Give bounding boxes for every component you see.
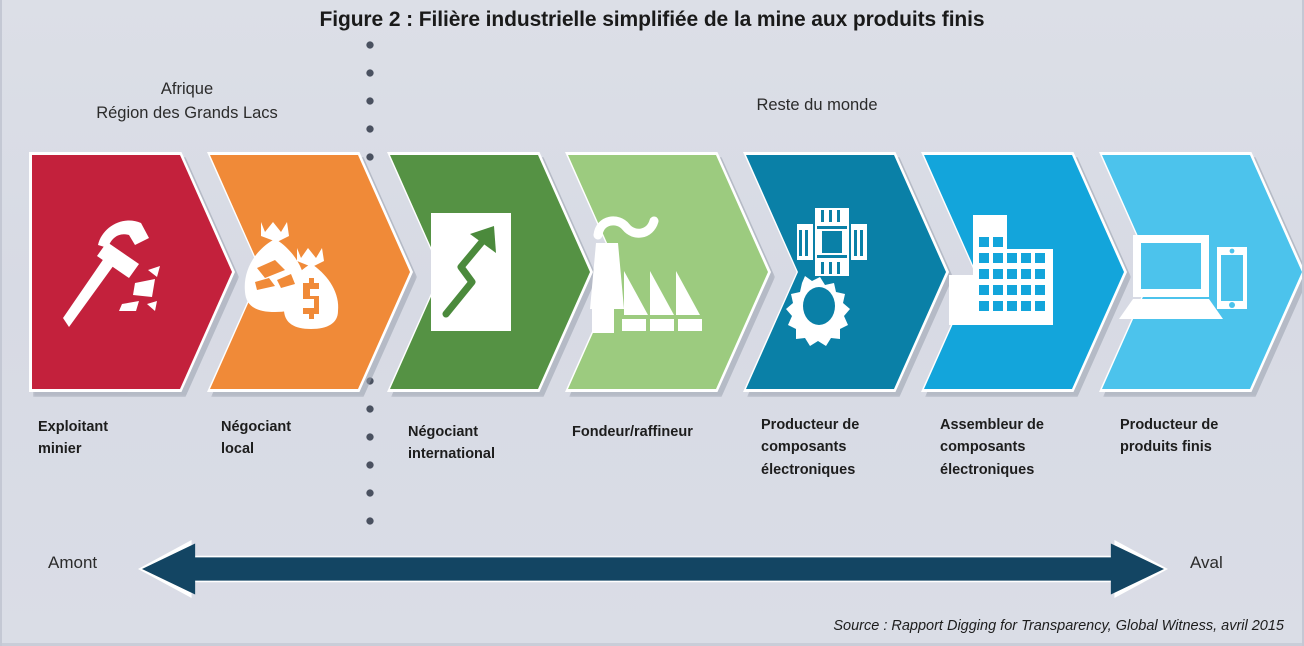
stage-label-line: électroniques (761, 459, 921, 481)
region-label-africa-line1: Afrique (62, 78, 312, 102)
stage-chevron-producteur-composants[interactable] (743, 152, 949, 392)
region-label-africa-line2: Région des Grands Lacs (62, 102, 312, 126)
stage-label-line: Assembleur de (940, 414, 1100, 436)
stage-chevron-fondeur-raffineur[interactable] (565, 152, 771, 392)
money-bags-icon (225, 182, 357, 362)
stage-label-line: international (408, 443, 568, 465)
stage-chevron-assembleur-composants[interactable] (921, 152, 1127, 392)
microchip-gear-icon (761, 182, 893, 362)
stage-label-row: Exploitant minier Négociant local Négoci… (2, 406, 1304, 516)
stage-label-line: Négociant (408, 421, 568, 443)
stage-label-line: local (221, 438, 381, 460)
source-caption: Source : Rapport Digging for Transparenc… (833, 618, 1284, 634)
stage-label-negociant-local: Négociant local (221, 416, 381, 461)
stage-label-fondeur-raffineur: Fondeur/raffineur (572, 421, 747, 443)
stage-chevron-negociant-local[interactable] (207, 152, 413, 392)
trend-arrow-icon (405, 182, 537, 362)
process-chevron-row (2, 152, 1304, 392)
stage-label-assembleur-composants: Assembleur de composants électroniques (940, 414, 1100, 481)
stage-label-line: produits finis (1120, 436, 1280, 458)
stage-label-line: Fondeur/raffineur (572, 421, 747, 443)
stage-label-line: composants (761, 436, 921, 458)
arrow-fill (142, 540, 1164, 598)
stage-label-line: Producteur de (1120, 414, 1280, 436)
stage-label-line: composants (940, 436, 1100, 458)
figure-canvas: Figure 2 : Filière industrielle simplifi… (0, 0, 1304, 646)
double-headed-arrow-icon (138, 536, 1168, 602)
figure-title: Figure 2 : Filière industrielle simplifi… (2, 8, 1302, 32)
stage-chevron-exploitant-minier[interactable] (29, 152, 235, 392)
stage-label-line: électroniques (940, 459, 1100, 481)
region-label-africa: Afrique Région des Grands Lacs (62, 78, 312, 126)
stage-label-line: minier (38, 438, 198, 460)
stage-label-line: Producteur de (761, 414, 921, 436)
laptop-phone-icon (1117, 182, 1249, 362)
factory-icon (583, 182, 715, 362)
stage-chevron-negociant-international[interactable] (387, 152, 593, 392)
stage-label-producteur-produits-finis: Producteur de produits finis (1120, 414, 1280, 459)
stage-chevron-producteur-produits-finis[interactable] (1099, 152, 1304, 392)
axis-label-aval: Aval (1190, 553, 1223, 573)
axis-label-amont: Amont (48, 553, 97, 573)
assembly-plant-icon (939, 182, 1071, 362)
region-label-world: Reste du monde (692, 96, 942, 115)
stage-label-exploitant-minier: Exploitant minier (38, 416, 198, 461)
upstream-downstream-axis: Amont Aval (2, 536, 1304, 602)
hammer-icon (47, 182, 179, 362)
stage-label-line: Négociant (221, 416, 381, 438)
stage-label-producteur-composants: Producteur de composants électroniques (761, 414, 921, 481)
stage-label-line: Exploitant (38, 416, 198, 438)
stage-label-negociant-international: Négociant international (408, 421, 568, 466)
